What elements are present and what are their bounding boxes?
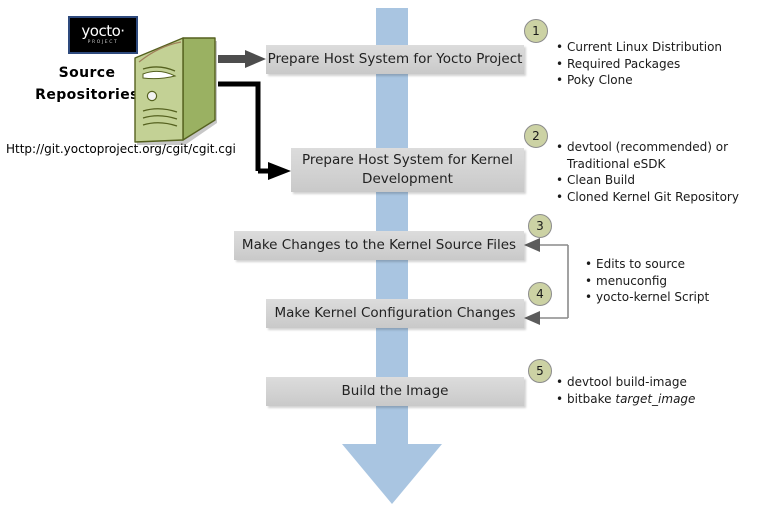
- list-item: devtool build-image: [556, 374, 695, 391]
- list-item: Current Linux Distribution: [556, 39, 722, 56]
- process-box-step5[interactable]: Build the Image: [266, 377, 524, 406]
- list-item: bitbake target_image: [556, 391, 695, 408]
- diagram-canvas: yocto· PROJECT Source Repositories Http:…: [0, 0, 769, 517]
- process-box-step4[interactable]: Make Kernel Configuration Changes: [266, 299, 524, 328]
- step-number-1: 1: [524, 19, 548, 43]
- server-tower-icon: [131, 36, 217, 146]
- list-item: yocto-kernel Script: [585, 289, 709, 306]
- bracket-connector-steps-3-4: [524, 238, 568, 325]
- bullet-list-step2: devtool (recommended) or Traditional eSD…: [556, 139, 739, 205]
- process-box-step3-label: Make Changes to the Kernel Source Files: [242, 236, 516, 255]
- yocto-logo: yocto· PROJECT: [68, 16, 138, 54]
- workflow-down-arrow-icon: [341, 440, 443, 506]
- process-box-step2[interactable]: Prepare Host System for Kernel Developme…: [291, 148, 524, 192]
- source-label-line1: Source: [28, 62, 146, 84]
- bitbake-command-prefix: bitbake: [567, 392, 615, 406]
- arrow-server-to-step2: [218, 84, 291, 180]
- arrow-server-to-step1: [218, 50, 266, 68]
- source-repositories-label: Source Repositories: [28, 62, 146, 106]
- list-item: menuconfig: [585, 273, 709, 290]
- bullet-list-step1: Current Linux Distribution Required Pack…: [556, 39, 722, 89]
- process-box-step5-label: Build the Image: [342, 382, 449, 401]
- process-box-step2-line2: Development: [362, 171, 453, 187]
- list-item-line1: devtool (recommended) or: [567, 139, 739, 156]
- list-item: Poky Clone: [556, 72, 722, 89]
- source-label-line2: Repositories: [28, 84, 146, 106]
- process-box-step2-line1: Prepare Host System for Kernel: [302, 152, 513, 168]
- process-box-step1[interactable]: Prepare Host System for Yocto Project: [266, 45, 524, 74]
- step-number-4: 4: [528, 282, 552, 306]
- list-item: Cloned Kernel Git Repository: [556, 189, 739, 206]
- step-number-3: 3: [528, 214, 552, 238]
- list-item-line2: Traditional eSDK: [567, 156, 739, 173]
- step-number-2: 2: [524, 124, 548, 148]
- yocto-logo-subtitle: PROJECT: [88, 40, 119, 46]
- process-box-step4-label: Make Kernel Configuration Changes: [274, 304, 515, 323]
- process-box-step2-label: Prepare Host System for Kernel Developme…: [302, 151, 513, 189]
- process-box-step1-label: Prepare Host System for Yocto Project: [268, 50, 523, 69]
- step-number-5: 5: [528, 359, 552, 383]
- bullet-list-steps-3-4: Edits to source menuconfig yocto-kernel …: [585, 256, 709, 306]
- bullet-list-step5: devtool build-image bitbake target_image: [556, 374, 695, 407]
- list-item: Edits to source: [585, 256, 709, 273]
- list-item: Required Packages: [556, 56, 722, 73]
- yocto-logo-word: yocto·: [81, 24, 124, 39]
- process-box-step3[interactable]: Make Changes to the Kernel Source Files: [234, 231, 524, 260]
- list-item: devtool (recommended) or Traditional eSD…: [556, 139, 739, 172]
- bitbake-target-image-arg: target_image: [615, 392, 695, 406]
- list-item: Clean Build: [556, 172, 739, 189]
